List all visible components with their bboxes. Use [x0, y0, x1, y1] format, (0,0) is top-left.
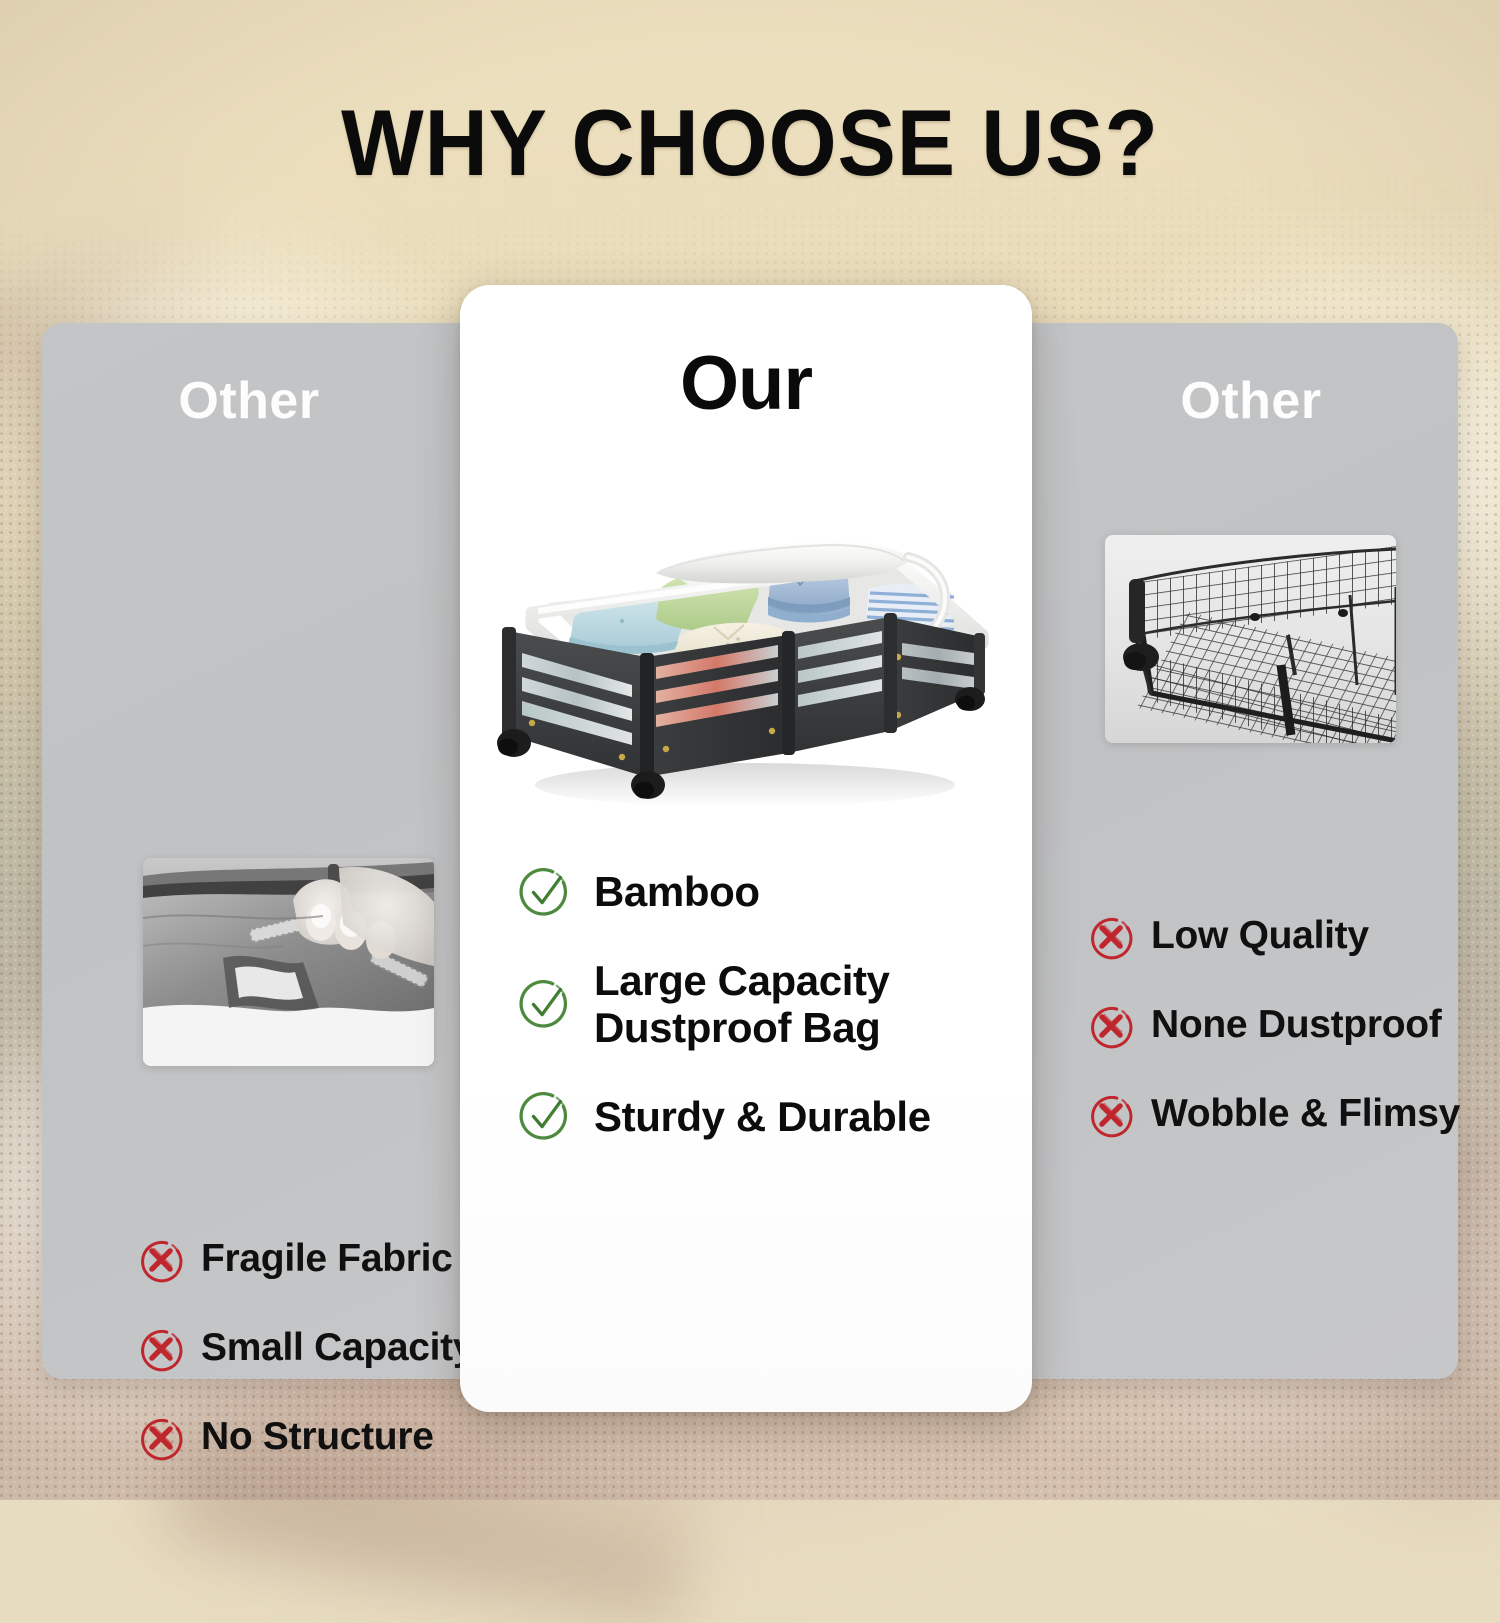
list-item: Large Capacity Dustproof Bag — [518, 957, 1018, 1051]
left-drawback-list: Fragile Fabric Small Capacity — [138, 1215, 498, 1482]
list-item: Low Quality — [1088, 892, 1468, 981]
list-item: Small Capacity — [138, 1304, 498, 1393]
list-item: None Dustproof — [1088, 981, 1468, 1070]
list-item-label: Sturdy & Durable — [594, 1093, 931, 1140]
cross-circle-icon — [138, 1326, 184, 1372]
under-bed-storage-box-photo — [470, 485, 1022, 825]
list-item-label: None Dustproof — [1151, 1005, 1441, 1046]
page-title: WHY CHOOSE US? — [53, 96, 1448, 190]
broken-zipper-photo — [143, 858, 434, 1066]
list-item: Fragile Fabric — [138, 1215, 498, 1304]
cross-circle-icon — [1088, 1003, 1134, 1049]
check-circle-icon — [518, 865, 572, 919]
list-item-label: Small Capacity — [201, 1328, 474, 1369]
cross-circle-icon — [1088, 914, 1134, 960]
check-circle-icon — [518, 1089, 572, 1143]
cross-circle-icon — [1088, 1092, 1134, 1138]
center-benefit-list: Bamboo Large Capacity Dustproof Bag — [518, 865, 1018, 1181]
list-item-label: Low Quality — [1151, 916, 1369, 957]
panel-title-center: Our — [460, 340, 1032, 427]
list-item: Wobble & Flimsy — [1088, 1070, 1468, 1159]
list-item: Sturdy & Durable — [518, 1089, 1018, 1143]
wire-mesh-basket-photo — [1105, 535, 1396, 743]
list-item-label: Wobble & Flimsy — [1151, 1094, 1460, 1135]
list-item: Bamboo — [518, 865, 1018, 919]
list-item: No Structure — [138, 1393, 498, 1482]
list-item-label: Fragile Fabric — [201, 1239, 453, 1280]
comparison-panel-center-our: Our — [460, 285, 1032, 1412]
list-item-label: Bamboo — [594, 868, 760, 915]
right-drawback-list: Low Quality None Dustproof Wobble & Flim… — [1088, 892, 1468, 1159]
cross-circle-icon — [138, 1415, 184, 1461]
list-item-label: Large Capacity Dustproof Bag — [594, 957, 890, 1051]
check-circle-icon — [518, 977, 572, 1031]
list-item-label: No Structure — [201, 1417, 434, 1458]
cross-circle-icon — [138, 1237, 184, 1283]
